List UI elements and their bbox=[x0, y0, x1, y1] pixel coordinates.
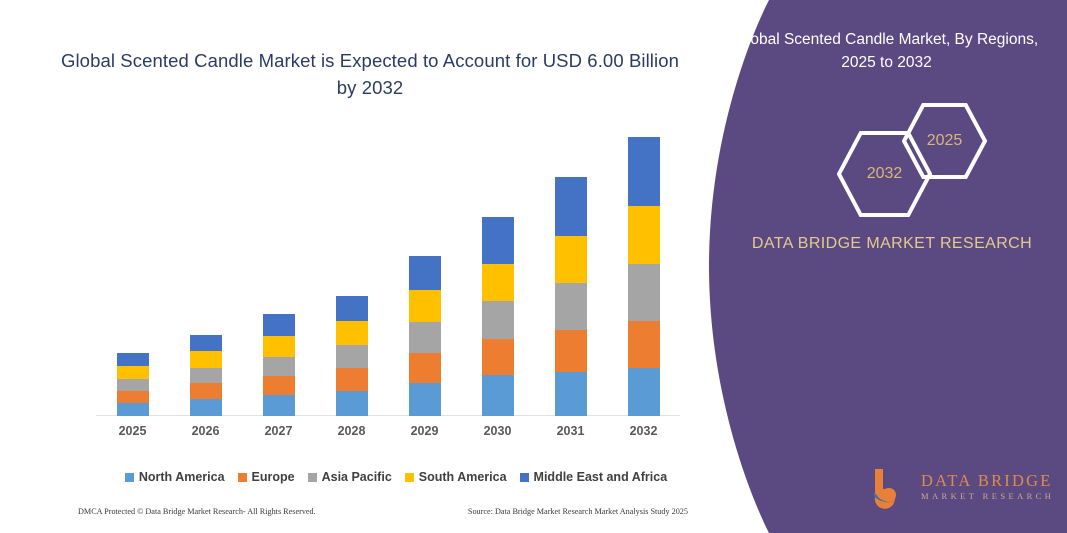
stacked-bar bbox=[409, 256, 441, 416]
stacked-bar bbox=[336, 296, 368, 416]
bar-column-2032 bbox=[607, 120, 680, 416]
bar-column-2026 bbox=[169, 120, 242, 416]
stacked-bar bbox=[555, 177, 587, 416]
bar-segment-asia-pacific bbox=[263, 357, 295, 376]
bar-segment-europe bbox=[117, 391, 149, 403]
footer-copyright: DMCA Protected © Data Bridge Market Rese… bbox=[78, 507, 316, 516]
bar-segment-asia-pacific bbox=[555, 283, 587, 330]
bar-segment-europe bbox=[555, 330, 587, 372]
x-axis-label-2026: 2026 bbox=[169, 424, 242, 444]
bar-segment-south-america bbox=[555, 236, 587, 283]
legend-swatch-icon bbox=[308, 473, 317, 482]
bar-segment-europe bbox=[263, 376, 295, 395]
bar-segment-middle-east-and-africa bbox=[482, 217, 514, 264]
bar-segment-asia-pacific bbox=[190, 368, 222, 383]
stacked-bar bbox=[190, 335, 222, 416]
bar-segment-south-america bbox=[190, 351, 222, 368]
x-axis-labels: 20252026202720282029203020312032 bbox=[96, 424, 680, 444]
legend-swatch-icon bbox=[238, 473, 247, 482]
hexagon-end-year-label: 2032 bbox=[867, 165, 903, 183]
bar-segment-north-america bbox=[117, 403, 149, 416]
legend-label: Middle East and Africa bbox=[534, 470, 668, 484]
legend-label: Europe bbox=[252, 470, 295, 484]
chart-panel: Global Scented Candle Market is Expected… bbox=[0, 0, 740, 533]
bar-column-2029 bbox=[388, 120, 461, 416]
bar-segment-asia-pacific bbox=[482, 301, 514, 339]
bar-segment-asia-pacific bbox=[336, 345, 368, 368]
bar-segment-europe bbox=[628, 321, 660, 368]
bar-segment-europe bbox=[482, 339, 514, 375]
bar-segment-north-america bbox=[190, 399, 222, 416]
bar-segment-north-america bbox=[336, 391, 368, 416]
bar-segment-asia-pacific bbox=[628, 264, 660, 321]
x-axis-label-2032: 2032 bbox=[607, 424, 680, 444]
chart-footer: DMCA Protected © Data Bridge Market Rese… bbox=[78, 507, 688, 516]
bar-segment-north-america bbox=[555, 372, 587, 416]
legend-label: Asia Pacific bbox=[322, 470, 392, 484]
bridge-b-icon bbox=[865, 463, 913, 511]
bar-column-2025 bbox=[96, 120, 169, 416]
brand-panel: Global Scented Candle Market, By Regions… bbox=[707, 0, 1067, 533]
bar-segment-middle-east-and-africa bbox=[336, 296, 368, 321]
hexagon-start-year-label: 2025 bbox=[927, 132, 963, 150]
chart-title: Global Scented Candle Market is Expected… bbox=[60, 48, 680, 102]
bar-column-2028 bbox=[315, 120, 388, 416]
stacked-bar bbox=[263, 314, 295, 416]
bar-segment-europe bbox=[409, 353, 441, 383]
bar-segment-south-america bbox=[263, 336, 295, 357]
bar-column-2027 bbox=[242, 120, 315, 416]
legend-swatch-icon bbox=[520, 473, 529, 482]
bar-segment-north-america bbox=[263, 395, 295, 416]
x-axis-label-2025: 2025 bbox=[96, 424, 169, 444]
bar-segment-europe bbox=[336, 368, 368, 391]
bar-segment-south-america bbox=[628, 206, 660, 264]
bar-segment-middle-east-and-africa bbox=[555, 177, 587, 236]
legend-label: North America bbox=[139, 470, 225, 484]
x-axis-label-2031: 2031 bbox=[534, 424, 607, 444]
x-axis-label-2029: 2029 bbox=[388, 424, 461, 444]
footer-source: Source: Data Bridge Market Research Mark… bbox=[468, 507, 688, 516]
x-axis-label-2030: 2030 bbox=[461, 424, 534, 444]
logo-wordmark: DATA BRIDGE MARKET RESEARCH bbox=[921, 472, 1054, 501]
bar-segment-south-america bbox=[336, 321, 368, 345]
bar-column-2031 bbox=[534, 120, 607, 416]
bar-column-2030 bbox=[461, 120, 534, 416]
hexagon-group: 2032 2025 bbox=[777, 100, 1047, 210]
infographic-page: Global Scented Candle Market is Expected… bbox=[0, 0, 1067, 533]
bar-segment-south-america bbox=[409, 290, 441, 322]
brand-panel-title: Global Scented Candle Market, By Regions… bbox=[729, 28, 1044, 75]
bar-segment-middle-east-and-africa bbox=[263, 314, 295, 336]
bar-segment-asia-pacific bbox=[409, 322, 441, 353]
purple-background-shape bbox=[707, 0, 1067, 533]
stacked-bar bbox=[628, 137, 660, 416]
bar-segment-europe bbox=[190, 383, 222, 399]
x-axis-label-2027: 2027 bbox=[242, 424, 315, 444]
hexagon-start-year: 2025 bbox=[902, 102, 987, 180]
bar-segment-asia-pacific bbox=[117, 379, 149, 391]
logo-subtitle: MARKET RESEARCH bbox=[921, 491, 1054, 501]
bar-segment-middle-east-and-africa bbox=[117, 353, 149, 366]
legend-item-asia-pacific[interactable]: Asia Pacific bbox=[308, 470, 392, 484]
legend-swatch-icon bbox=[125, 473, 134, 482]
company-logo: DATA BRIDGE MARKET RESEARCH bbox=[865, 458, 1055, 516]
bar-segment-middle-east-and-africa bbox=[628, 137, 660, 206]
logo-title: DATA BRIDGE bbox=[921, 472, 1054, 491]
legend-item-north-america[interactable]: North America bbox=[125, 470, 225, 484]
x-axis-label-2028: 2028 bbox=[315, 424, 388, 444]
bar-segment-south-america bbox=[117, 366, 149, 379]
bar-segment-north-america bbox=[628, 368, 660, 416]
legend-item-middle-east-and-africa[interactable]: Middle East and Africa bbox=[520, 470, 668, 484]
bar-segment-north-america bbox=[482, 375, 514, 416]
bar-segment-south-america bbox=[482, 264, 514, 301]
bar-segment-north-america bbox=[409, 383, 441, 416]
legend-label: South America bbox=[419, 470, 507, 484]
stacked-bar bbox=[482, 217, 514, 416]
bar-segment-middle-east-and-africa bbox=[190, 335, 222, 351]
bar-segment-middle-east-and-africa bbox=[409, 256, 441, 290]
brand-name: DATA BRIDGE MARKET RESEARCH bbox=[747, 232, 1037, 257]
chart-legend: North AmericaEuropeAsia PacificSouth Ame… bbox=[96, 470, 696, 484]
legend-swatch-icon bbox=[405, 473, 414, 482]
legend-item-europe[interactable]: Europe bbox=[238, 470, 295, 484]
bar-chart-plot bbox=[96, 120, 680, 416]
legend-item-south-america[interactable]: South America bbox=[405, 470, 507, 484]
stacked-bar bbox=[117, 353, 149, 416]
